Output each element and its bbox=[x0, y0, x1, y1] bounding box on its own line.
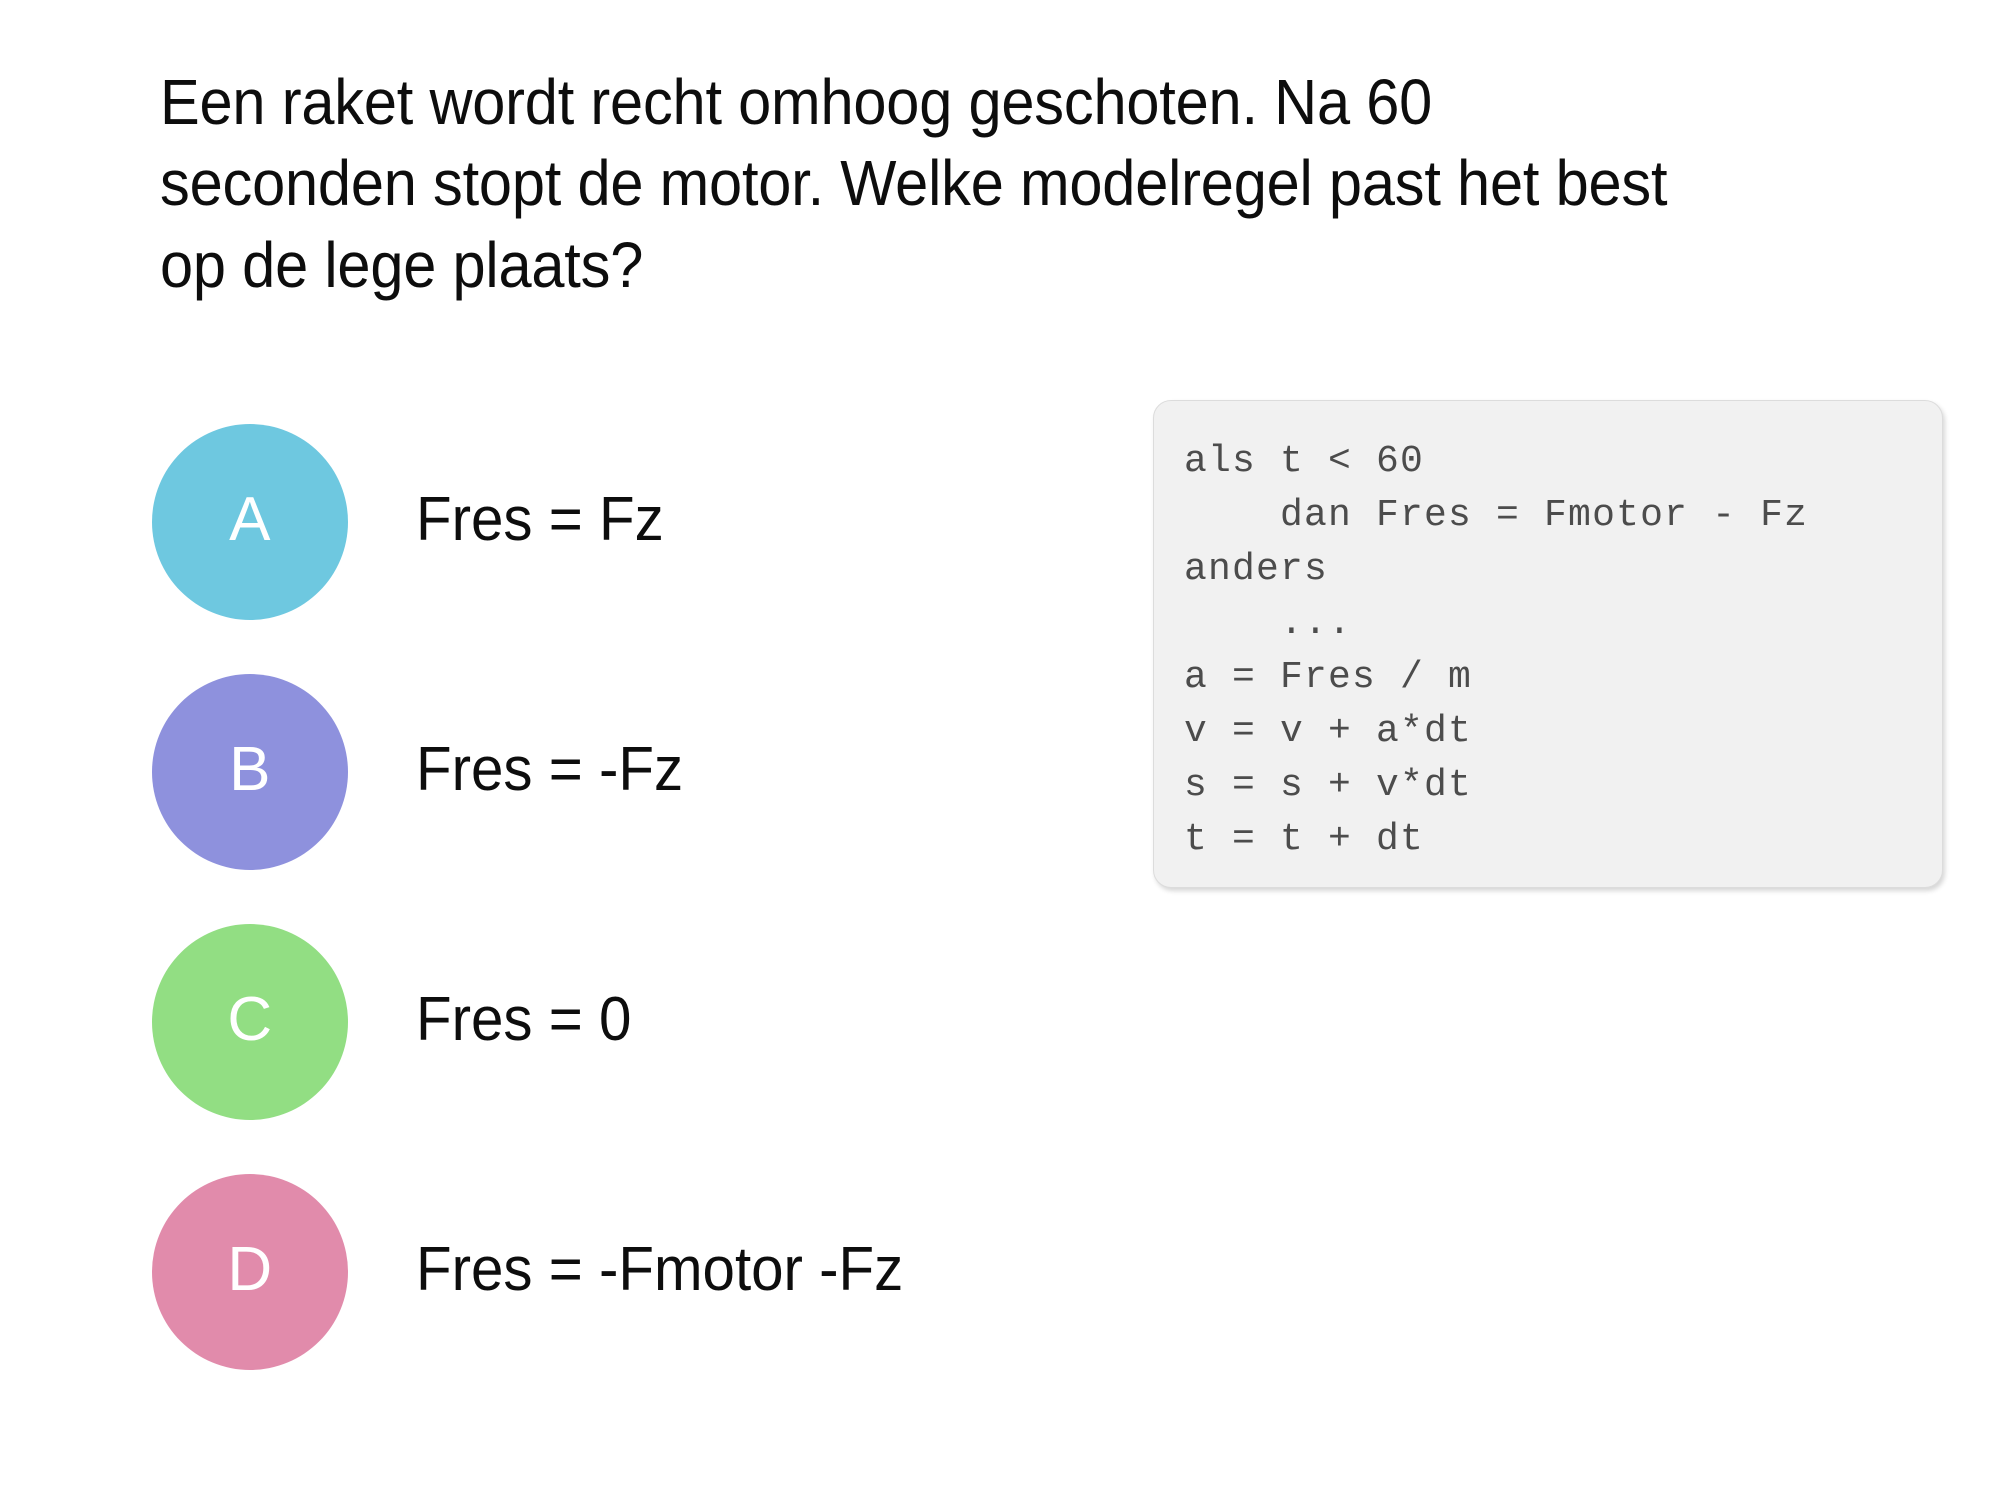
option-letter-a: A bbox=[229, 489, 271, 551]
option-label-c: Fres = 0 bbox=[416, 986, 631, 1054]
option-bubble-a[interactable]: A bbox=[152, 424, 348, 620]
option-letter-c: C bbox=[227, 989, 272, 1051]
option-label-d: Fres = -Fmotor -Fz bbox=[416, 1236, 903, 1304]
option-bubble-c[interactable]: C bbox=[152, 924, 348, 1120]
option-bubble-b[interactable]: B bbox=[152, 674, 348, 870]
answer-option-c[interactable]: C Fres = 0 bbox=[152, 924, 1092, 1174]
slide-canvas: Een raket wordt recht omhoog geschoten. … bbox=[0, 0, 2000, 1500]
question-text: Een raket wordt recht omhoog geschoten. … bbox=[160, 62, 1685, 306]
model-code-text: als t < 60 dan Fres = Fmotor - Fz anders… bbox=[1184, 435, 1808, 867]
answer-option-a[interactable]: A Fres = Fz bbox=[152, 424, 1092, 674]
option-label-b: Fres = -Fz bbox=[416, 736, 683, 804]
option-letter-b: B bbox=[229, 739, 271, 801]
answer-option-d[interactable]: D Fres = -Fmotor -Fz bbox=[152, 1174, 1092, 1424]
option-bubble-d[interactable]: D bbox=[152, 1174, 348, 1370]
model-code-panel: als t < 60 dan Fres = Fmotor - Fz anders… bbox=[1153, 400, 1943, 888]
option-label-a: Fres = Fz bbox=[416, 486, 664, 554]
answer-option-b[interactable]: B Fres = -Fz bbox=[152, 674, 1092, 924]
option-letter-d: D bbox=[227, 1239, 272, 1301]
answer-options-list: A Fres = Fz B Fres = -Fz C Fres = 0 D Fr… bbox=[152, 424, 1092, 1424]
